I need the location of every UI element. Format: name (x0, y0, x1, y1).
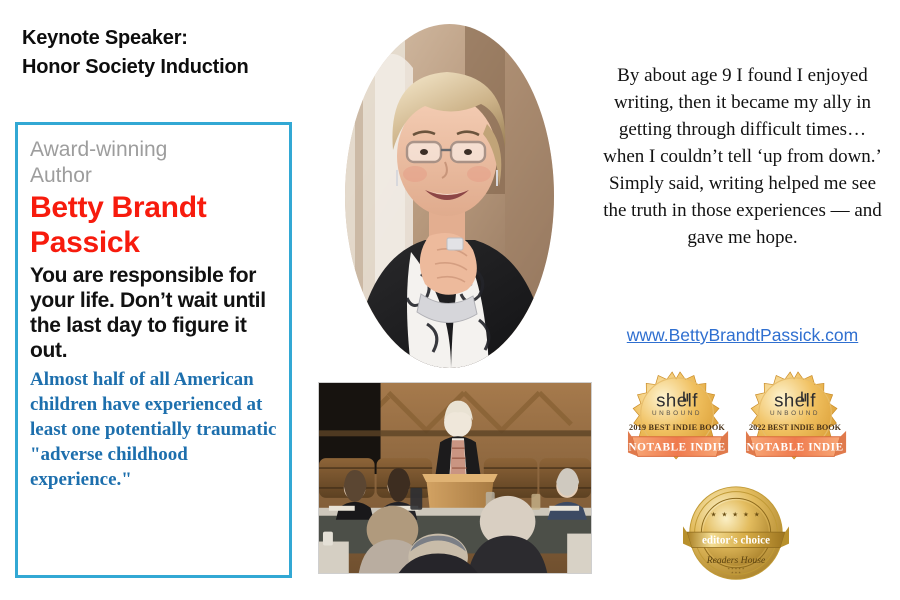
seal-2019-ribbon-text: NOTABLE INDIE (628, 442, 725, 454)
seal-2022-brand: shelf (774, 389, 816, 410)
author-info-card: Award-winning Author Betty Brandt Passic… (15, 122, 292, 578)
seal-editors-choice-graphic: ★ ★ ★ ★ ★ editor's choice Readers House … (683, 482, 789, 588)
seal-2022-award-text: 2022 BEST INDIE BOOK (749, 423, 842, 432)
seal-2022-ribbon-text: NOTABLE INDIE (746, 442, 843, 454)
seal-editors-subtitle: Readers House (706, 555, 766, 566)
svg-text:★ ★ ★: ★ ★ ★ (731, 571, 741, 575)
header-line-1: Keynote Speaker: (22, 24, 322, 53)
author-eyebrow-line-1: Award-winning (30, 137, 279, 163)
event-illustration (319, 383, 591, 573)
author-portrait-photo (345, 24, 554, 368)
author-website-link[interactable]: www.BettyBrandtPassick.com (600, 325, 885, 346)
seal-2019-brand: shelf (656, 389, 698, 410)
award-seal-shelf-unbound-2022: shelf UNBOUND 2022 BEST INDIE BOOK NOTAB… (744, 370, 852, 478)
portrait-illustration (345, 24, 554, 368)
author-name-line-2: Passick (30, 226, 279, 259)
seal-2019-brand-sub: UNBOUND (652, 410, 702, 417)
speaking-event-photo (318, 382, 592, 574)
author-name-line-1: Betty Brandt (30, 191, 279, 224)
author-statistic: Almost half of all American children hav… (30, 367, 279, 492)
award-seal-shelf-unbound-2019: shelf UNBOUND 2019 BEST INDIE BOOK NOTAB… (626, 370, 734, 478)
author-eyebrow-line-2: Author (30, 163, 279, 189)
author-quote: By about age 9 I found I enjoyed writing… (600, 62, 885, 251)
header-line-2: Honor Society Induction (22, 53, 322, 82)
seal-2022-graphic: shelf UNBOUND 2022 BEST INDIE BOOK NOTAB… (744, 370, 852, 478)
seal-2019-award-text: 2019 BEST INDIE BOOK (629, 423, 725, 432)
seal-editors-stars: ★ ★ ★ ★ ★ (711, 511, 762, 519)
seal-2019-graphic: shelf UNBOUND 2019 BEST INDIE BOOK NOTAB… (626, 370, 734, 478)
seal-editors-title: editor's choice (702, 535, 770, 547)
keynote-header: Keynote Speaker: Honor Society Induction (22, 24, 322, 82)
award-seal-editors-choice: ★ ★ ★ ★ ★ editor's choice Readers House … (683, 482, 789, 588)
seal-2022-brand-sub: UNBOUND (770, 410, 820, 417)
author-tagline: You are responsible for your life. Don’t… (30, 263, 279, 363)
